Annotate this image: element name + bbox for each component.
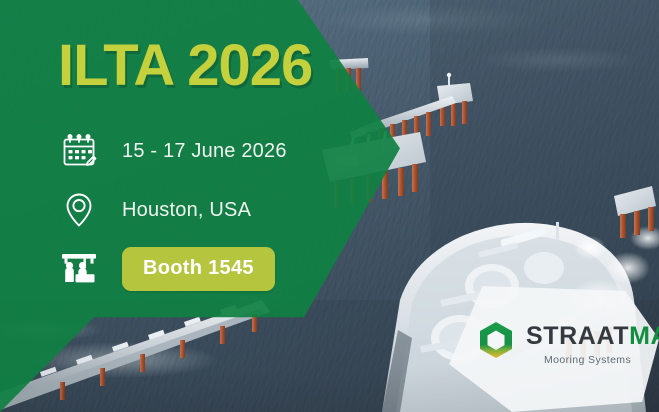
booth-number-badge[interactable]: Booth 1545	[122, 247, 275, 291]
logo-tagline: Mooring Systems	[544, 354, 659, 366]
logo-word-secondary: MAN	[629, 322, 659, 350]
hexagon-nut-icon	[475, 320, 517, 369]
exhibition-booth-icon	[57, 247, 101, 291]
event-date-text: 15 - 17 June 2026	[122, 140, 287, 163]
map-pin-icon	[57, 188, 101, 232]
logo-word-primary: STRAAT	[526, 322, 629, 350]
logo-lockup: STRAATMAN Mooring Systems	[475, 320, 659, 369]
logo-wordmark-block: STRAATMAN Mooring Systems	[526, 324, 659, 366]
event-date-row: 15 - 17 June 2026	[57, 128, 287, 174]
event-location-row: Houston, USA	[57, 187, 287, 233]
calendar-icon	[57, 129, 101, 173]
company-logo-plate[interactable]: STRAATMAN Mooring Systems	[449, 286, 659, 412]
event-banner: ILTA 2026	[0, 0, 659, 412]
event-booth-row: Booth 1545	[57, 246, 287, 292]
page-title: ILTA 2026	[58, 37, 312, 95]
logo-wordmark: STRAATMAN	[526, 324, 659, 349]
event-location-text: Houston, USA	[122, 199, 251, 222]
event-details-list: 15 - 17 June 2026 Houston, USA	[57, 128, 287, 292]
